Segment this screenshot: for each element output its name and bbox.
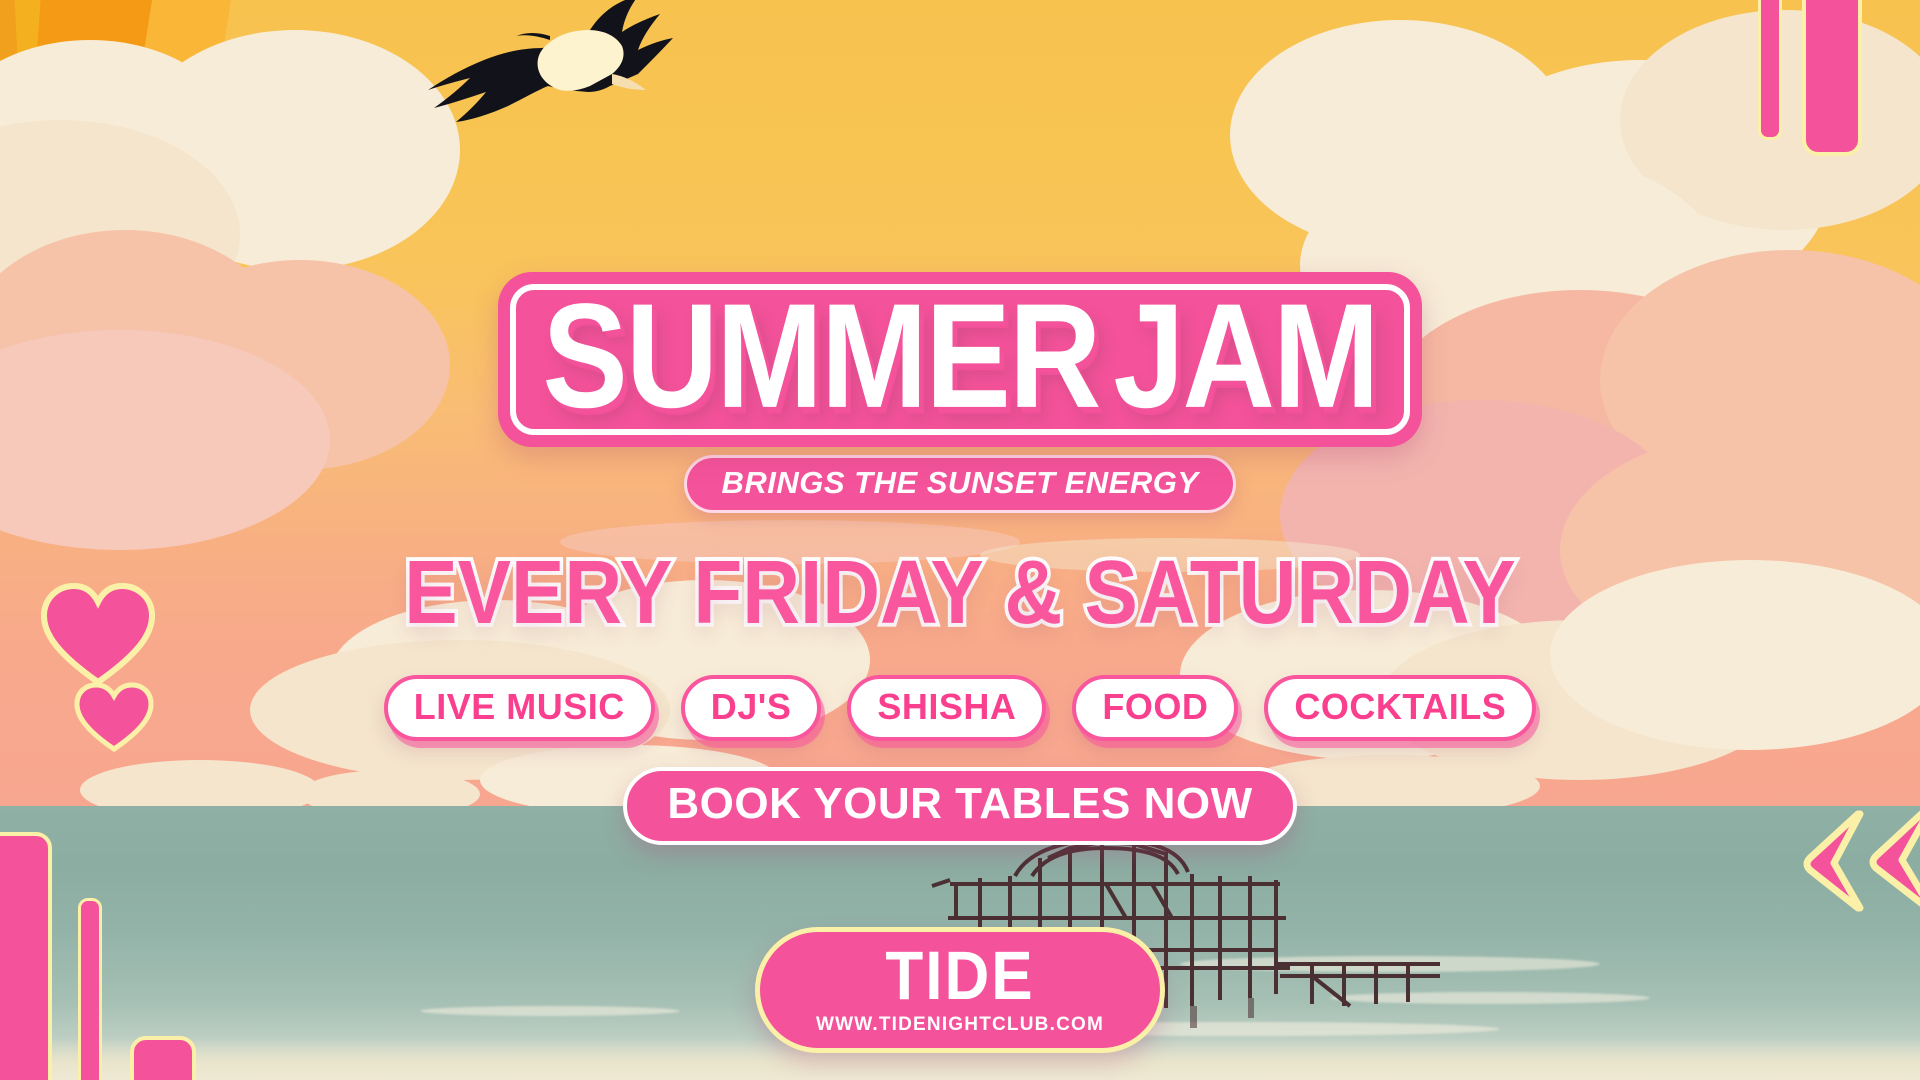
tide-logo-url: WWW.TIDENIGHTCLUB.COM (816, 1014, 1104, 1036)
content-stack: SUMMERJAM BRINGS THE SUNSET ENERGY EVERY… (0, 0, 1920, 1080)
poster-title: SUMMERJAM (542, 282, 1377, 433)
book-tables-button[interactable]: BOOK YOUR TABLES NOW (623, 767, 1296, 845)
title-word-jam: JAM (1113, 273, 1377, 439)
badge-food[interactable]: FOOD (1072, 675, 1238, 741)
badge-djs[interactable]: DJ'S (681, 675, 822, 741)
tide-logo-word: TIDE (885, 942, 1034, 1010)
badge-live-music[interactable]: LIVE MUSIC (384, 675, 655, 741)
feature-badge-row: LIVE MUSIC DJ'S SHISHA FOOD COCKTAILS (384, 675, 1536, 741)
title-word-summer: SUMMER (542, 273, 1099, 439)
summer-jam-poster: SUMMERJAM BRINGS THE SUNSET ENERGY EVERY… (0, 0, 1920, 1080)
badge-cocktails[interactable]: COCKTAILS (1264, 675, 1536, 741)
badge-shisha[interactable]: SHISHA (847, 675, 1046, 741)
poster-headline: EVERY FRIDAY & SATURDAY (404, 541, 1515, 644)
title-inner-frame: SUMMERJAM (510, 284, 1409, 435)
tide-logo[interactable]: TIDE WWW.TIDENIGHTCLUB.COM (755, 927, 1165, 1053)
poster-subtitle: BRINGS THE SUNSET ENERGY (684, 455, 1235, 513)
title-plate: SUMMERJAM (498, 272, 1421, 447)
